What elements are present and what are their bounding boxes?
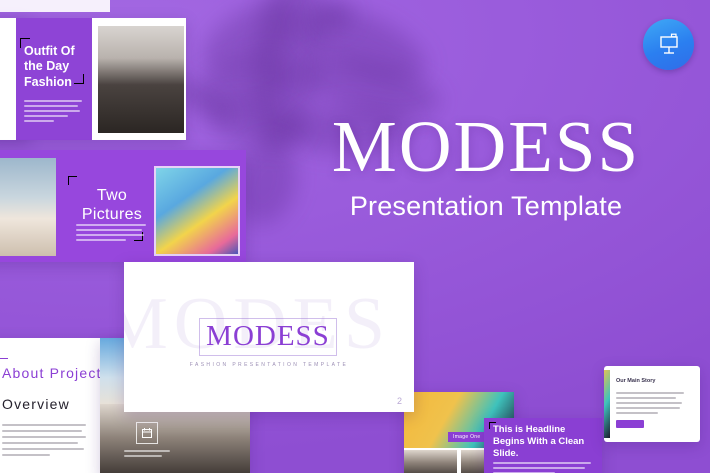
slide-headline: This is Headline Begins With a Clean Sli…: [493, 424, 597, 460]
page-number: 2: [397, 396, 402, 406]
slide-headline-dark: Overview: [2, 396, 70, 412]
slide-headline-clean[interactable]: This is Headline Begins With a Clean Sli…: [484, 418, 602, 473]
slide-headline: Outfit Of the Day Fashion: [24, 44, 90, 90]
palm-shadow-leaf: [189, 0, 311, 88]
slide-photo-bottom: [100, 404, 250, 473]
keynote-badge[interactable]: [643, 19, 694, 70]
palm-shadow-leaf: [294, 0, 436, 96]
slide-photo-thumb: [604, 370, 610, 438]
slide-photo-right: [154, 166, 240, 256]
slide-icon-caption: [124, 450, 172, 457]
story-card-body: [616, 392, 686, 414]
palm-shadow-leaf: [316, 0, 354, 32]
story-card-headline: Our Main Story: [616, 378, 655, 384]
slide-photo: [98, 26, 184, 133]
slide-body-text: [493, 462, 593, 473]
slide-body-text: [24, 100, 84, 122]
hero-text-block: MODESS Presentation Template: [286, 112, 686, 222]
cover-logo: MODESS: [194, 320, 342, 353]
slide-outfit-of-the-day[interactable]: Outfit Of the Day Fashion: [0, 18, 186, 140]
read-more-button[interactable]: [616, 420, 644, 428]
slide-headline: Two Pictures: [72, 186, 152, 224]
slide-body-text: [2, 424, 88, 456]
slide-two-pictures[interactable]: Two Pictures: [0, 150, 246, 262]
cover-tagline: FASHION PRESENTATION TEMPLATE: [184, 362, 354, 368]
palm-shadow-leaf: [184, 47, 302, 120]
slide-story-card[interactable]: Our Main Story: [604, 366, 700, 442]
slide-edge-sliver: [0, 0, 110, 12]
page-subtitle: Presentation Template: [286, 191, 686, 222]
slide-photo-thumb: [404, 450, 457, 473]
keynote-presentation-icon: [655, 31, 683, 59]
page-title: MODESS: [286, 112, 686, 181]
slide-photo-left: [0, 158, 56, 256]
bracket-corner-icon: [68, 176, 77, 185]
slide-body-text: [76, 224, 148, 241]
slide-headline-accent: About Project: [2, 364, 102, 383]
calendar-icon: [136, 422, 158, 444]
image-tag-badge: Image One: [448, 432, 485, 442]
slide-cover-card[interactable]: MODES MODESS FASHION PRESENTATION TEMPLA…: [124, 262, 414, 412]
